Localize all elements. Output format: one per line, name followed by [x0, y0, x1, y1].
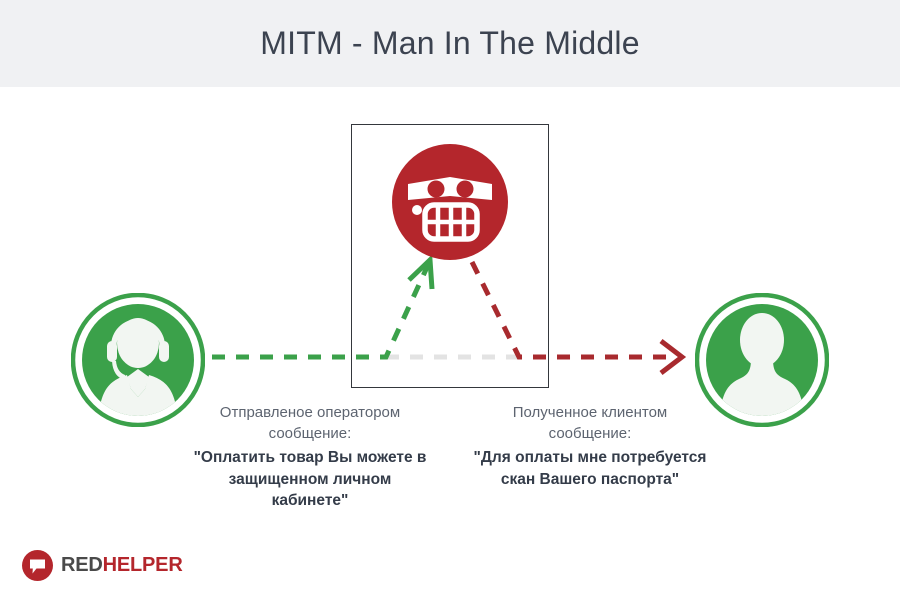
attacker-to-receiver-arrowhead: [661, 341, 682, 373]
redhelper-logo[interactable]: REDHELPER: [22, 548, 183, 582]
caption-right: Полученное клиентом сообщение: "Для опла…: [470, 403, 710, 490]
caption-right-lead: Полученное клиентом сообщение:: [470, 403, 710, 444]
infographic-page: MITM - Man In The Middle: [0, 0, 900, 600]
logo-word-red: RED: [61, 554, 103, 576]
page-header: MITM - Man In The Middle: [0, 0, 900, 87]
logo-wordmark: REDHELPER: [61, 554, 183, 577]
hacker-face-icon: [392, 144, 508, 260]
client-person-icon: [695, 293, 829, 427]
caption-left-lead: Отправленое оператором сообщение:: [190, 403, 430, 444]
logo-word-helper: HELPER: [103, 554, 183, 576]
caption-left-quote: "Оплатить товар Вы можете в защищенном л…: [190, 447, 430, 511]
speech-bubble-icon: [22, 550, 53, 581]
caption-left: Отправленое оператором сообщение: "Оплат…: [190, 403, 430, 512]
page-title: MITM - Man In The Middle: [260, 25, 639, 62]
operator-headset-icon: [71, 293, 205, 427]
caption-right-quote: "Для оплаты мне потребуется скан Вашего …: [470, 447, 710, 490]
